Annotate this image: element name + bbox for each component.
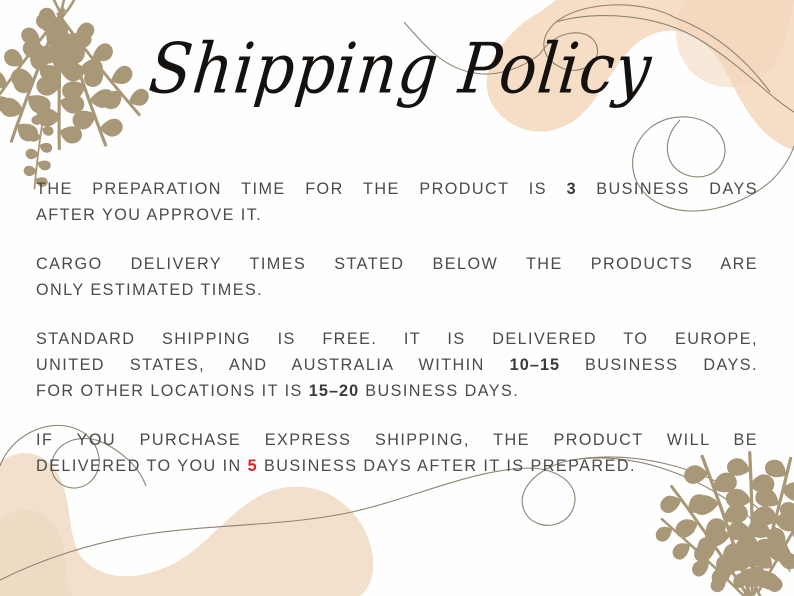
text-run: THE PREPARATION TIME FOR THE PRODUCT IS	[36, 180, 567, 198]
text-run: FOR OTHER LOCATIONS IT IS	[36, 382, 309, 400]
text-run: IF YOU PURCHASE EXPRESS SHIPPING, THE PR…	[36, 431, 758, 449]
policy-line: IF YOU PURCHASE EXPRESS SHIPPING, THE PR…	[36, 427, 758, 453]
emphasis-value: 10–15	[510, 356, 561, 374]
text-run: CARGO DELIVERY TIMES STATED BELOW THE PR…	[36, 255, 758, 273]
policy-paragraph-standard-shipping: STANDARD SHIPPING IS FREE. IT IS DELIVER…	[36, 326, 758, 404]
policy-line: THE PREPARATION TIME FOR THE PRODUCT IS …	[36, 176, 758, 202]
policy-paragraph-express-shipping: IF YOU PURCHASE EXPRESS SHIPPING, THE PR…	[36, 427, 758, 479]
policy-line: DELIVERED TO YOU IN 5 BUSINESS DAYS AFTE…	[36, 453, 758, 479]
text-run: BUSINESS DAYS AFTER IT IS PREPARED.	[258, 457, 636, 475]
page-title: Shipping Policy	[146, 32, 655, 105]
emphasis-value: 3	[567, 180, 577, 198]
policy-line: ONLY ESTIMATED TIMES.	[36, 277, 758, 303]
policy-body: THE PREPARATION TIME FOR THE PRODUCT IS …	[36, 176, 758, 479]
highlight-value: 5	[248, 457, 258, 475]
policy-line: UNITED STATES, AND AUSTRALIA WITHIN 10–1…	[36, 352, 758, 378]
text-run: AFTER YOU APPROVE IT.	[36, 206, 262, 224]
text-run: ONLY ESTIMATED TIMES.	[36, 281, 263, 299]
shipping-policy-card: Shipping Policy THE PREPARATION TIME FOR…	[0, 0, 794, 596]
page-title-wrapper: Shipping Policy	[0, 40, 794, 105]
text-run: BUSINESS DAYS	[577, 180, 758, 198]
policy-line: STANDARD SHIPPING IS FREE. IT IS DELIVER…	[36, 326, 758, 352]
policy-line: AFTER YOU APPROVE IT.	[36, 202, 758, 228]
text-run: BUSINESS DAYS.	[359, 382, 519, 400]
policy-line: CARGO DELIVERY TIMES STATED BELOW THE PR…	[36, 251, 758, 277]
text-run: DELIVERED TO YOU IN	[36, 457, 248, 475]
emphasis-value: 15–20	[309, 382, 360, 400]
text-run: BUSINESS DAYS.	[560, 356, 758, 374]
policy-line: FOR OTHER LOCATIONS IT IS 15–20 BUSINESS…	[36, 378, 758, 404]
text-run: STANDARD SHIPPING IS FREE. IT IS DELIVER…	[36, 330, 758, 348]
policy-paragraph-cargo-delivery: CARGO DELIVERY TIMES STATED BELOW THE PR…	[36, 251, 758, 303]
policy-paragraph-preparation-time: THE PREPARATION TIME FOR THE PRODUCT IS …	[36, 176, 758, 228]
text-run: UNITED STATES, AND AUSTRALIA WITHIN	[36, 356, 510, 374]
